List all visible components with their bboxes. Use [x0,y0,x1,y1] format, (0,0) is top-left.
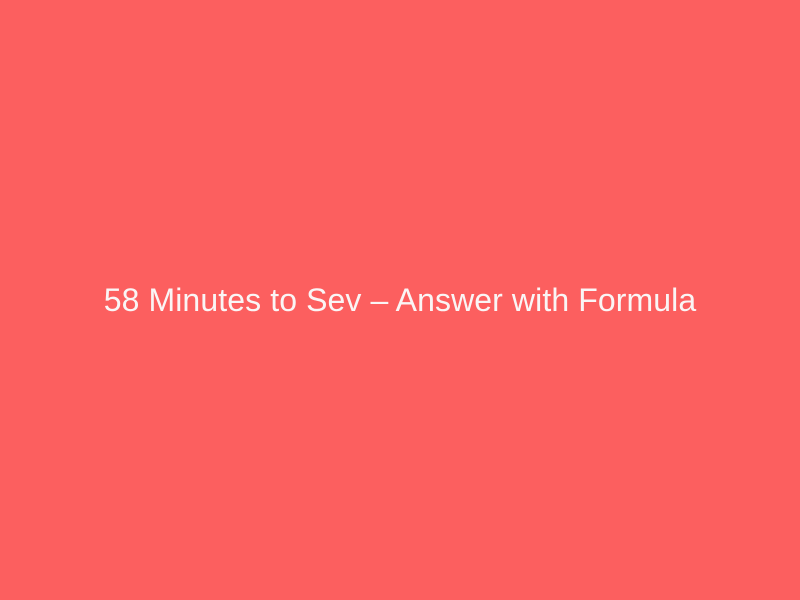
page-title: 58 Minutes to Sev – Answer with Formula [104,280,697,320]
poster-canvas: 58 Minutes to Sev – Answer with Formula [0,0,800,600]
